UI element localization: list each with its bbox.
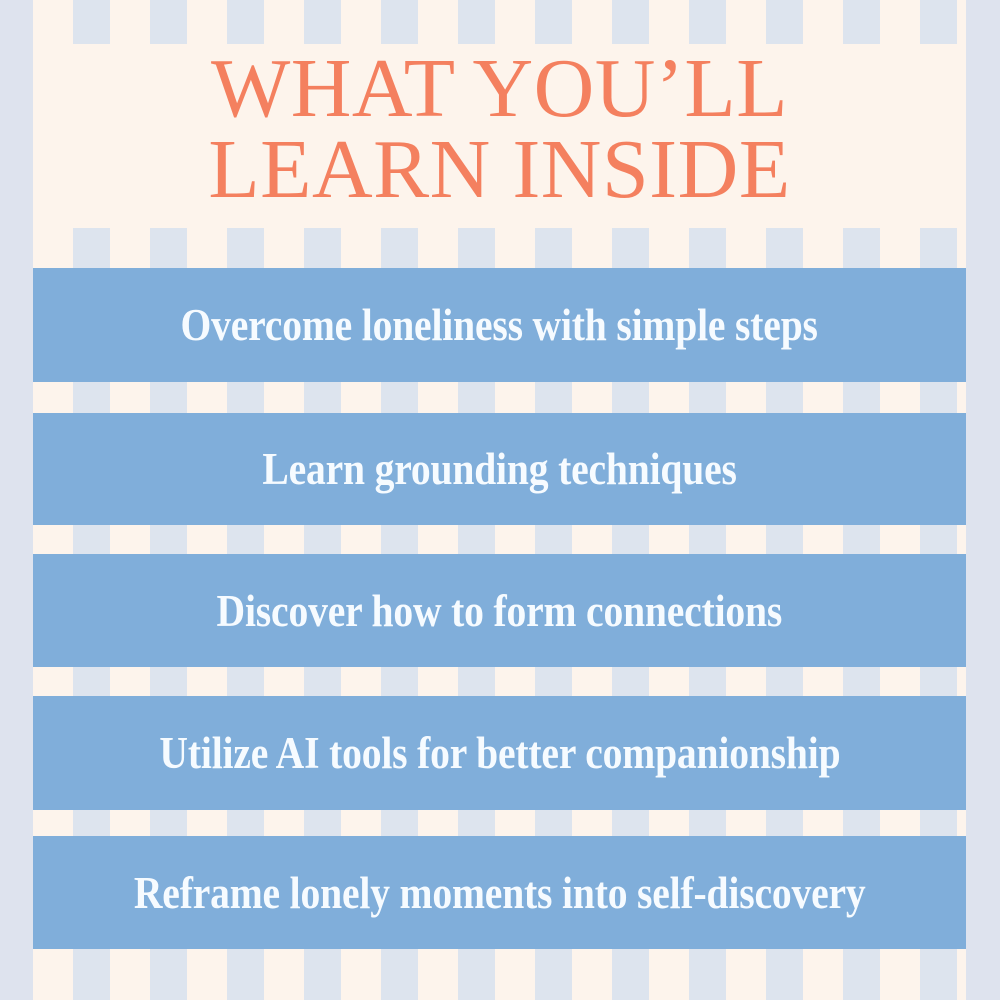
- page-title-line-1: WHAT YOU’LL: [33, 48, 966, 129]
- benefit-bar-2: Learn grounding techniques: [33, 413, 966, 525]
- stripe-band-gap-3: [33, 667, 966, 696]
- page-title: WHAT YOU’LL LEARN INSIDE: [33, 48, 966, 211]
- stripe-band-above-bar-1: [33, 228, 966, 268]
- benefit-text-1: Overcome loneliness with simple steps: [181, 299, 818, 351]
- benefit-bar-4: Utilize AI tools for better companionshi…: [33, 696, 966, 810]
- stripe-band-gap-1: [33, 382, 966, 413]
- benefit-bar-3: Discover how to form connections: [33, 554, 966, 667]
- stripe-band-gap-4: [33, 810, 966, 836]
- stripe-band-top: [33, 0, 966, 44]
- benefit-text-5: Reframe lonely moments into self-discove…: [134, 867, 866, 919]
- page-title-line-2: LEARN INSIDE: [33, 129, 966, 210]
- stripe-band-bottom: [33, 949, 966, 1000]
- benefit-bar-5: Reframe lonely moments into self-discove…: [33, 836, 966, 949]
- benefit-bar-1: Overcome loneliness with simple steps: [33, 268, 966, 382]
- poster-canvas: WHAT YOU’LL LEARN INSIDE Overcome loneli…: [0, 0, 1000, 1000]
- benefit-text-2: Learn grounding techniques: [262, 443, 736, 495]
- benefit-text-4: Utilize AI tools for better companionshi…: [159, 727, 840, 779]
- stripe-band-gap-2: [33, 525, 966, 554]
- benefit-text-3: Discover how to form connections: [217, 585, 783, 637]
